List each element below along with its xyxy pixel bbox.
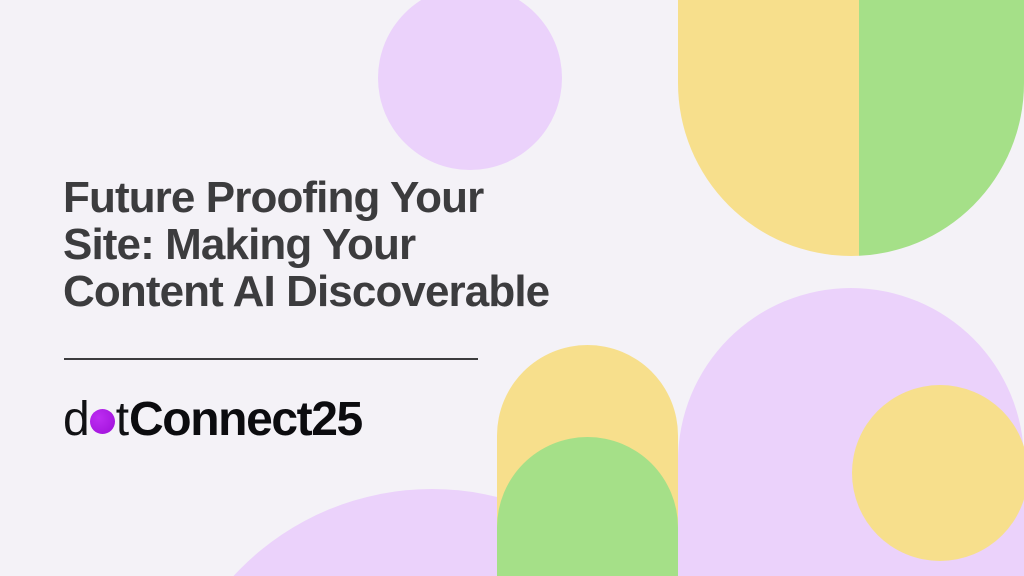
decor-pill-topright-green-half — [859, 0, 1024, 256]
logo-brand-text: Connect25 — [129, 392, 362, 447]
logo-dot-word: d t — [63, 392, 128, 447]
logo-dot-circle-icon — [90, 409, 115, 434]
slide-title: Future Proofing Your Site: Making Your C… — [63, 174, 643, 315]
presentation-slide: Future Proofing Your Site: Making Your C… — [0, 0, 1024, 576]
decor-pill-topright — [678, 0, 1024, 256]
brand-logo: d t Connect25 — [63, 392, 362, 440]
decor-circle-yellow-right — [852, 385, 1024, 561]
logo-letter-d: d — [63, 392, 89, 447]
slide-content: Future Proofing Your Site: Making Your C… — [63, 0, 663, 576]
decor-pill-topright-yellow-half — [678, 0, 859, 256]
decor-block-lavender-right — [678, 288, 1024, 576]
logo-letter-t: t — [116, 392, 128, 447]
title-divider — [64, 358, 478, 360]
